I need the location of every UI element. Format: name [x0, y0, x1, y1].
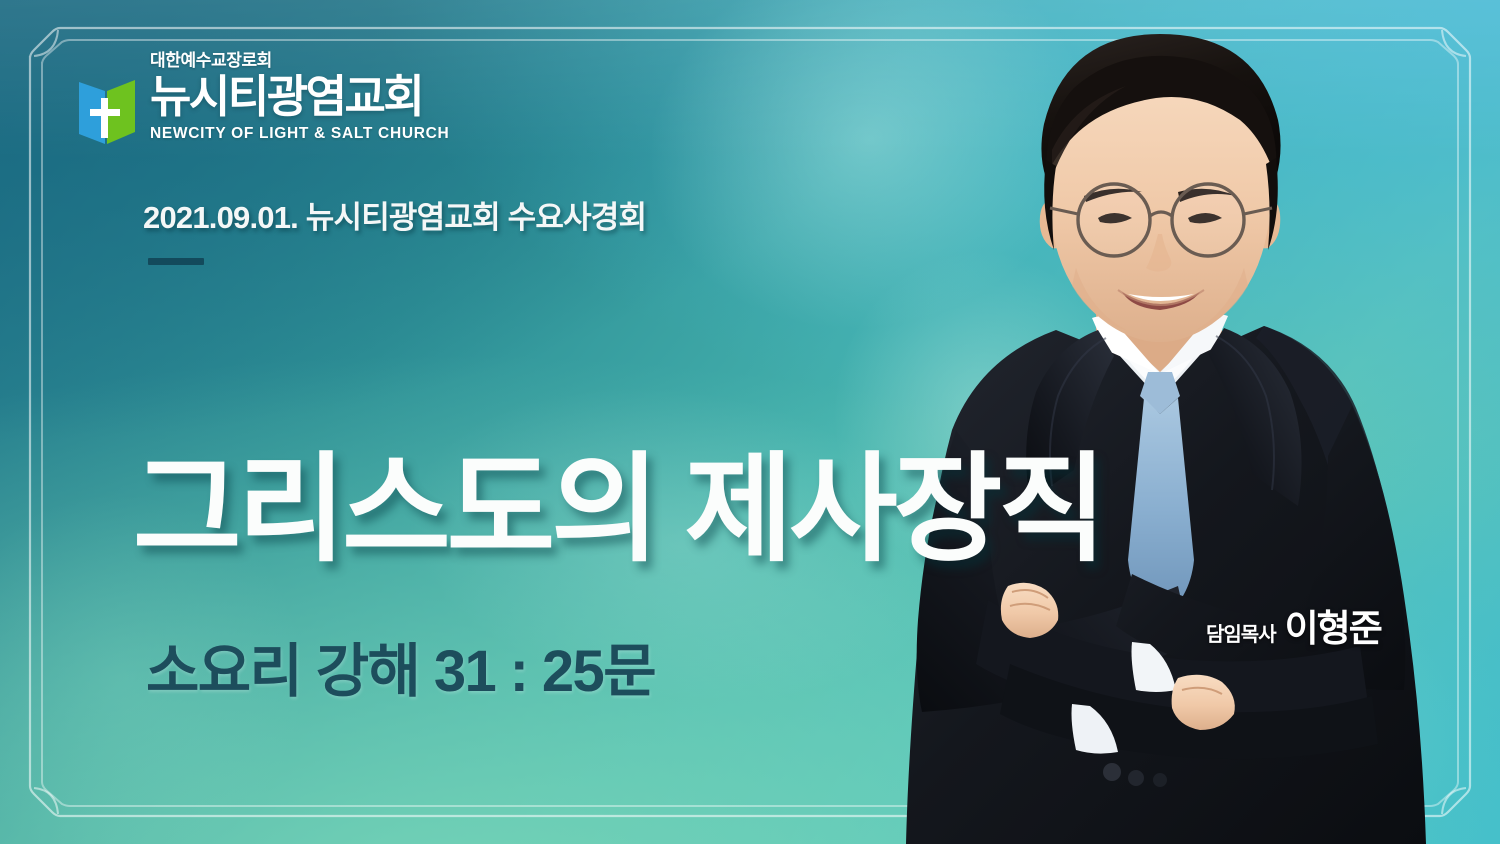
open-book-cross-icon — [76, 72, 138, 150]
church-logo: 대한예수교장로회 뉴시티광염교회 NEWCITY OF LIGHT & SALT… — [76, 52, 449, 150]
service-date-line: 2021.09.01. 뉴시티광염교회 수요사경회 — [143, 192, 646, 237]
logo-church-name-ko: 뉴시티광염교회 — [150, 74, 449, 121]
sermon-subtitle: 소요리 강해 31 : 25문 — [146, 643, 655, 701]
speaker-portrait — [860, 0, 1500, 844]
speaker-role: 담임목사 — [1206, 618, 1276, 647]
sermon-title: 그리스도의 제사장직 — [133, 451, 1103, 569]
logo-denomination: 대한예수교장로회 — [150, 52, 449, 69]
logo-church-name-en: NEWCITY OF LIGHT & SALT CHURCH — [150, 126, 449, 142]
sermon-title-card: 대한예수교장로회 뉴시티광염교회 NEWCITY OF LIGHT & SALT… — [0, 0, 1500, 844]
speaker-name: 이형준 — [1285, 598, 1381, 652]
speaker-label: 담임목사 이형준 — [1206, 598, 1381, 652]
background-glow-blob — [770, 180, 1190, 650]
divider-rule — [148, 258, 204, 265]
